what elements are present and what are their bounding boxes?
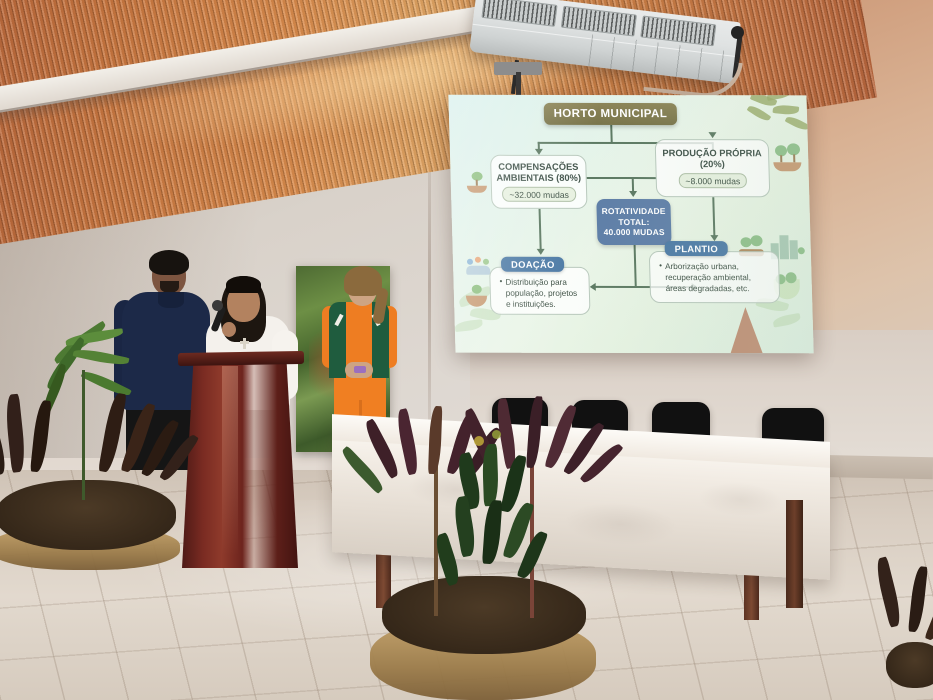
connector-rotatividade-down <box>634 245 637 287</box>
plant-soil <box>0 480 176 550</box>
ac-mount-knob <box>731 26 744 39</box>
necklace-pendant-cross <box>240 341 249 344</box>
node-producao: PRODUÇÃO PRÓPRIA (20%) ~8.000 mudas <box>655 139 771 197</box>
woman-speaker-hand <box>222 322 236 337</box>
microphone-head <box>212 300 223 311</box>
node-producao-value: ~8.000 mudas <box>678 173 747 188</box>
rotatividade-line3: 40.000 MUDAS <box>602 227 666 238</box>
podium-highlight <box>222 366 238 556</box>
croton-leaf <box>482 444 499 506</box>
left-plant-group <box>0 330 196 580</box>
seedling-hand-icon <box>464 171 491 197</box>
table-post <box>786 500 803 608</box>
screen-bottom-notch <box>729 307 762 353</box>
wooden-podium <box>182 358 298 568</box>
arrow-to-doacao-box <box>590 283 596 291</box>
woman-speaker-fringe <box>226 276 261 293</box>
podium-top-surface <box>178 351 304 366</box>
arrow-to-producao <box>708 132 716 138</box>
presentation-room-photo: HORTO MUNICIPAL COMPENSAÇÕES AMBIENTAIS … <box>0 0 933 700</box>
palm-stem <box>82 370 85 500</box>
connector-comp-to-doacao <box>539 209 542 251</box>
ac-grille <box>481 0 557 27</box>
woman-uniform-vest <box>329 302 346 378</box>
hand-plant-icon <box>464 285 491 311</box>
arrow-to-doacao <box>537 249 545 255</box>
plant-leaf <box>924 584 933 642</box>
connector-root-down <box>610 125 612 143</box>
node-rotatividade: ROTATIVIDADE TOTAL: 40.000 MUDAS <box>596 199 671 245</box>
rotatividade-line2: TOTAL: <box>602 217 666 228</box>
flower-bud <box>474 436 484 446</box>
palm-frond <box>73 346 130 367</box>
ac-grille <box>561 6 637 37</box>
center-plant-arrangement <box>356 408 606 700</box>
plant-leaf <box>908 566 928 633</box>
node-plantio: • Arborização urbana, recuperação ambien… <box>649 251 781 303</box>
croton-leaf <box>482 500 502 565</box>
man-navy-hair <box>149 250 189 275</box>
woman-uniform-hair <box>344 266 382 296</box>
tag-plantio: PLANTIO <box>664 241 728 256</box>
node-plantio-body: Arborização urbana, recuperação ambienta… <box>665 261 771 294</box>
node-compensacoes: COMPENSAÇÕES AMBIENTAIS (80%) ~32.000 mu… <box>490 155 588 209</box>
plant-soil <box>886 642 933 688</box>
connector-prod-to-plantio <box>712 197 715 239</box>
projection-screen: HORTO MUNICIPAL COMPENSAÇÕES AMBIENTAIS … <box>448 95 813 354</box>
dark-foliage-leaf <box>4 394 27 473</box>
flower-bud <box>492 430 501 439</box>
node-doacao-body: Distribuição para população, projetos e … <box>505 277 581 310</box>
cordyline-leaf <box>394 408 420 475</box>
slide-title-banner: HORTO MUNICIPAL <box>544 103 678 125</box>
node-doacao: • Distribuição para população, projetos … <box>489 267 590 315</box>
phone-in-hand <box>354 366 366 373</box>
tag-doacao: DOAÇÃO <box>501 257 565 272</box>
right-edge-plant <box>886 556 933 700</box>
plant-soil <box>382 576 586 654</box>
node-compensacoes-value: ~32.000 mudas <box>502 187 576 202</box>
dark-foliage-leaf <box>30 400 51 473</box>
rotatividade-line1: ROTATIVIDADE <box>602 206 666 217</box>
node-compensacoes-heading: COMPENSAÇÕES AMBIENTAIS (80%) <box>491 161 586 184</box>
arrow-to-rotatividade <box>629 191 637 197</box>
connector-mid-horizontal <box>587 177 657 179</box>
node-producao-heading: PRODUÇÃO PRÓPRIA (20%) <box>656 148 769 171</box>
man-navy-collar <box>158 292 184 308</box>
cordyline-leaf <box>428 406 442 474</box>
trees-hand-icon <box>772 143 805 175</box>
